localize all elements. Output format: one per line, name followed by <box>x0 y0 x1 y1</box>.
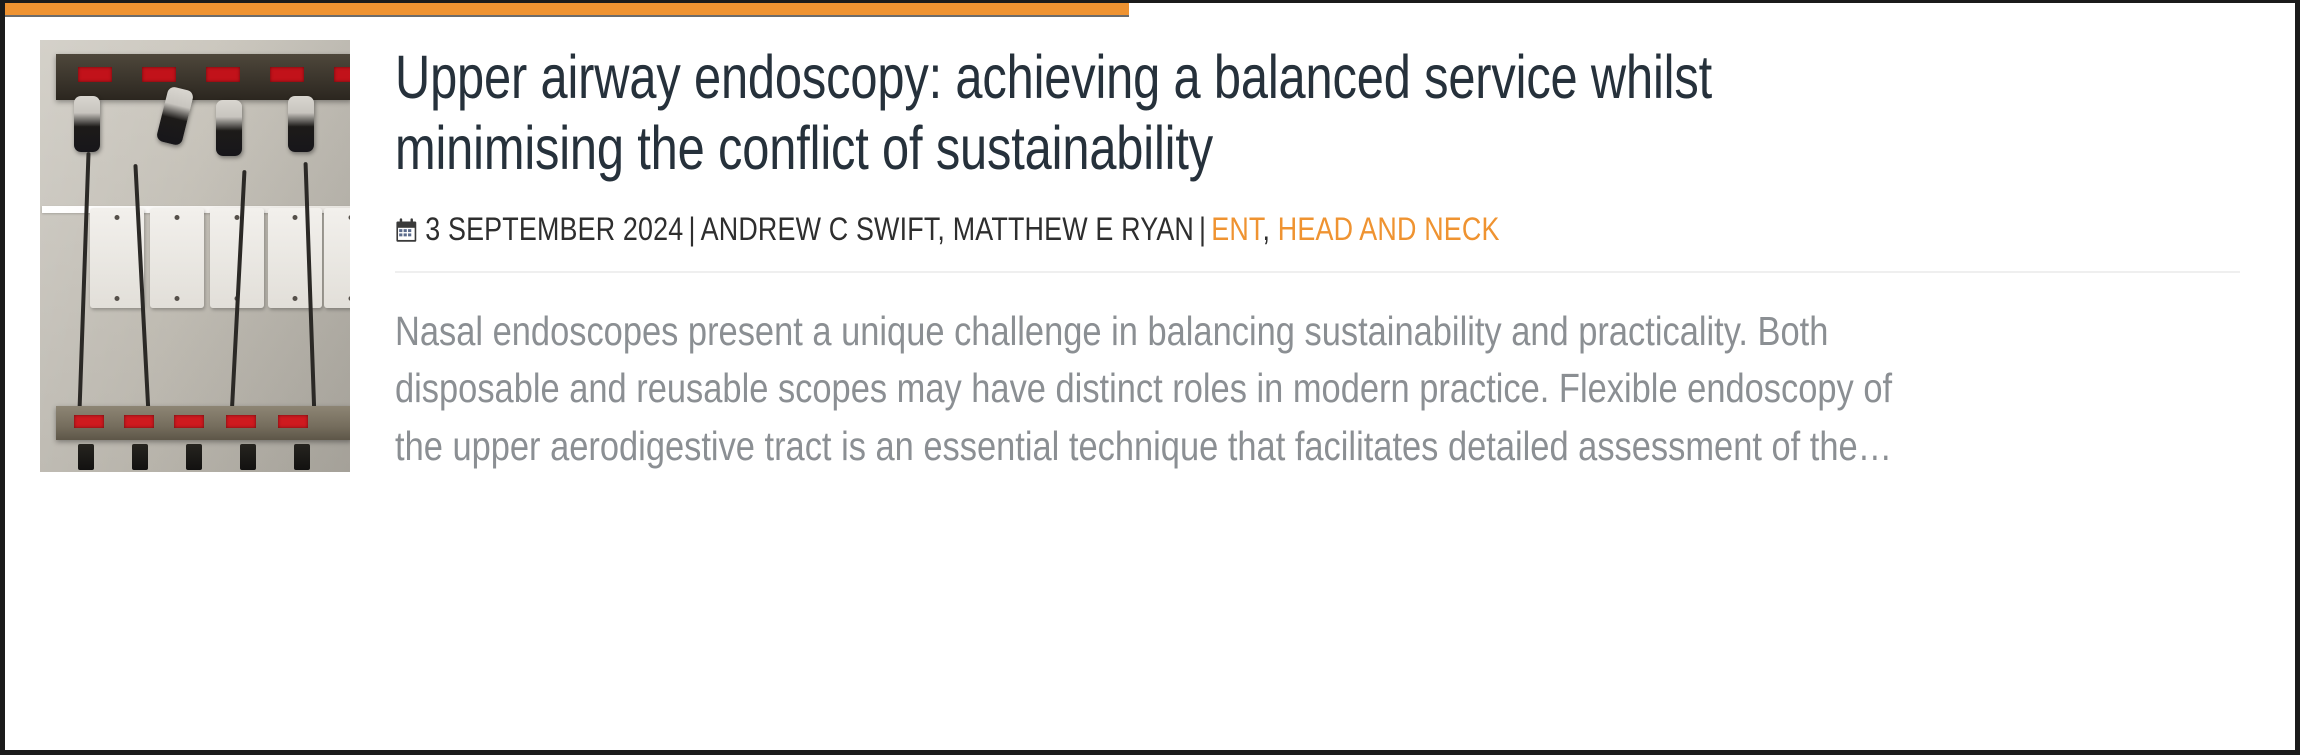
article-listing-item[interactable]: Upper airway endoscopy: achieving a bala… <box>5 17 2295 750</box>
article-thumbnail-image[interactable] <box>40 40 350 472</box>
article-card-frame: Upper airway endoscopy: achieving a bala… <box>0 0 2300 755</box>
article-thumbnail-link[interactable] <box>40 40 350 472</box>
calendar-icon <box>395 214 418 252</box>
meta-separator-2: | <box>1194 211 1211 247</box>
category-separator: , <box>1263 211 1278 247</box>
top-accent-bar-remainder <box>1129 0 2295 17</box>
meta-separator-1: | <box>683 211 700 247</box>
article-authors: ANDREW C SWIFT, MATTHEW E RYAN <box>701 211 1194 247</box>
photo-cabinet-bottom-rail <box>56 406 350 440</box>
article-meta: 3 SEPTEMBER 2024|ANDREW C SWIFT, MATTHEW… <box>395 210 2244 252</box>
top-accent-bar <box>5 0 1129 17</box>
article-title-link[interactable]: Upper airway endoscopy: achieving a bala… <box>395 42 1835 184</box>
article-content: Upper airway endoscopy: achieving a bala… <box>395 40 2295 516</box>
photo-cabinet-top-rail <box>56 54 350 100</box>
category-link-head-and-neck[interactable]: HEAD AND NECK <box>1278 211 1500 247</box>
article-excerpt: Nasal endoscopes present a unique challe… <box>395 303 1899 475</box>
meta-divider <box>395 271 2240 273</box>
category-link-ent[interactable]: ENT <box>1211 211 1262 247</box>
article-date: 3 SEPTEMBER 2024 <box>425 211 683 247</box>
